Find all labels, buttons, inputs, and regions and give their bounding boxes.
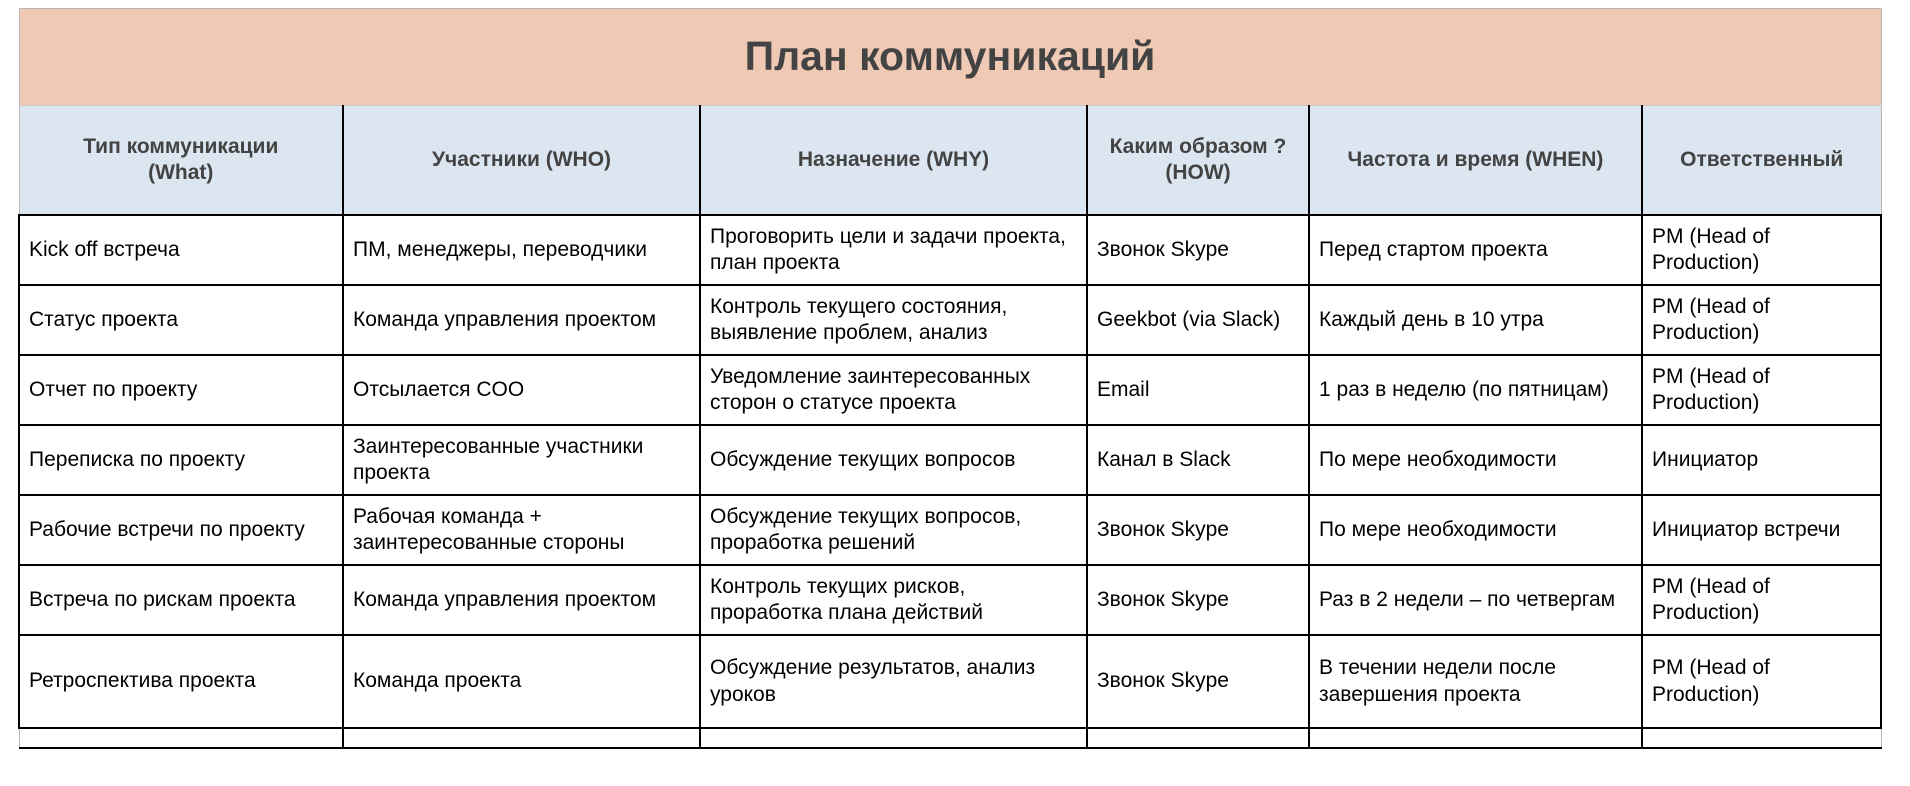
spreadsheet-canvas: План коммуникаций Тип коммуникации (What… [0,0,1910,786]
cell-how[interactable]: Geekbot (via Slack) [1087,285,1309,355]
cell-how[interactable]: Звонок Skype [1087,635,1309,728]
cell-what-text: Ретроспектива проекта [29,668,334,694]
cell-how[interactable]: Звонок Skype [1087,495,1309,565]
table-row[interactable]: Переписка по проекту Заинтересованные уч… [19,425,1881,495]
column-header-owner-label: Ответственный [1650,147,1874,173]
cell-when-text: Раз в 2 недели – по четвергам [1319,587,1633,613]
cell-why[interactable]: Обсуждение текущих вопросов, проработка … [700,495,1087,565]
column-header-what-line2: (What) [27,160,336,186]
cell-when-text: По мере необходимости [1319,447,1633,473]
table-row[interactable]: Рабочие встречи по проекту Рабочая коман… [19,495,1881,565]
cell-what[interactable]: Встреча по рискам проекта [19,565,343,635]
table-row[interactable]: Ретроспектива проекта Команда проекта Об… [19,635,1881,728]
cell-who[interactable]: Заинтересованные участники проекта [343,425,700,495]
cell-owner[interactable]: Инициатор [1642,425,1881,495]
cell-owner[interactable]: PM (Head of Production) [1642,215,1881,285]
cell-how-empty[interactable] [1087,728,1309,748]
cell-when[interactable]: В течении недели после завершения проект… [1309,635,1642,728]
cell-what-text: Переписка по проекту [29,447,334,473]
cell-who[interactable]: Отсылается COO [343,355,700,425]
cell-what[interactable]: Ретроспектива проекта [19,635,343,728]
cell-who-text: Команда проекта [353,668,691,694]
cell-owner-text: Инициатор встречи [1652,517,1872,543]
cell-who[interactable]: Команда управления проектом [343,565,700,635]
cell-what-text: Kick off встреча [29,237,334,263]
cell-what-text: Рабочие встречи по проекту [29,517,334,543]
column-header-how-line2: (HOW) [1095,160,1301,186]
table-title-cell[interactable]: План коммуникаций [19,9,1881,106]
cell-how[interactable]: Звонок Skype [1087,565,1309,635]
cell-how[interactable]: Звонок Skype [1087,215,1309,285]
cell-how-text: Email [1097,377,1300,403]
cell-when[interactable]: По мере необходимости [1309,495,1642,565]
cell-how-text: Канал в Slack [1097,447,1300,473]
cell-why[interactable]: Уведомление заинтересованных сторон о ст… [700,355,1087,425]
cell-when-empty[interactable] [1309,728,1642,748]
column-header-what-line1: Тип коммуникации [27,134,336,160]
cell-when[interactable]: 1 раз в неделю (по пятницам) [1309,355,1642,425]
cell-what-text: Отчет по проекту [29,377,334,403]
cell-who-text: Команда управления проектом [353,587,691,613]
cell-owner[interactable]: PM (Head of Production) [1642,565,1881,635]
table-row[interactable]: Kick off встреча ПМ, менеджеры, переводч… [19,215,1881,285]
column-header-what[interactable]: Тип коммуникации (What) [19,106,343,216]
cell-what[interactable]: Статус проекта [19,285,343,355]
cell-when[interactable]: Раз в 2 недели – по четвергам [1309,565,1642,635]
cell-why-text: Обсуждение результатов, анализ уроков [710,655,1078,708]
cell-owner[interactable]: PM (Head of Production) [1642,635,1881,728]
column-header-when-label: Частота и время (WHEN) [1317,147,1634,173]
cell-why[interactable]: Контроль текущих рисков, проработка план… [700,565,1087,635]
column-header-how[interactable]: Каким образом ? (HOW) [1087,106,1309,216]
cell-why[interactable]: Контроль текущего состояния, выявление п… [700,285,1087,355]
cell-owner-text: PM (Head of Production) [1652,655,1872,708]
cell-when[interactable]: Перед стартом проекта [1309,215,1642,285]
cell-why-text: Контроль текущего состояния, выявление п… [710,294,1078,347]
cell-who[interactable]: Рабочая команда + заинтересованные сторо… [343,495,700,565]
column-header-why-label: Назначение (WHY) [708,147,1079,173]
cell-owner[interactable]: Инициатор встречи [1642,495,1881,565]
communication-plan-table-wrapper: План коммуникаций Тип коммуникации (What… [18,8,1880,749]
cell-owner-text: PM (Head of Production) [1652,574,1872,627]
table-row-partial-cutoff[interactable] [19,728,1881,748]
cell-who-text: ПМ, менеджеры, переводчики [353,237,691,263]
cell-why-text: Обсуждение текущих вопросов [710,447,1078,473]
column-header-how-line1: Каким образом ? [1095,134,1301,160]
cell-how[interactable]: Email [1087,355,1309,425]
cell-how-text: Звонок Skype [1097,517,1300,543]
cell-owner[interactable]: PM (Head of Production) [1642,285,1881,355]
cell-when[interactable]: Каждый день в 10 утра [1309,285,1642,355]
table-row[interactable]: Отчет по проекту Отсылается COO Уведомле… [19,355,1881,425]
cell-owner-text: PM (Head of Production) [1652,364,1872,417]
page-title: План коммуникаций [745,33,1156,79]
cell-owner-text: Инициатор [1652,447,1872,473]
table-row[interactable]: Встреча по рискам проекта Команда управл… [19,565,1881,635]
cell-how-text: Звонок Skype [1097,237,1300,263]
cell-who[interactable]: Команда управления проектом [343,285,700,355]
cell-why-text: Обсуждение текущих вопросов, проработка … [710,504,1078,557]
cell-owner-text: PM (Head of Production) [1652,224,1872,277]
cell-how-text: Geekbot (via Slack) [1097,307,1300,333]
cell-why-text: Уведомление заинтересованных сторон о ст… [710,364,1078,417]
table-title-row: План коммуникаций [19,9,1881,106]
cell-owner-text: PM (Head of Production) [1652,294,1872,347]
cell-what[interactable]: Рабочие встречи по проекту [19,495,343,565]
cell-what[interactable]: Переписка по проекту [19,425,343,495]
cell-owner-empty[interactable] [1642,728,1881,748]
column-header-when[interactable]: Частота и время (WHEN) [1309,106,1642,216]
cell-what[interactable]: Отчет по проекту [19,355,343,425]
cell-why[interactable]: Обсуждение текущих вопросов [700,425,1087,495]
column-header-who-label: Участники (WHO) [351,147,692,173]
cell-why[interactable]: Проговорить цели и задачи проекта, план … [700,215,1087,285]
communication-plan-table[interactable]: План коммуникаций Тип коммуникации (What… [18,8,1882,749]
cell-who-text: Заинтересованные участники проекта [353,434,691,487]
cell-what-text: Встреча по рискам проекта [29,587,334,613]
cell-who[interactable]: ПМ, менеджеры, переводчики [343,215,700,285]
cell-who-text: Отсылается COO [353,377,691,403]
cell-how-text: Звонок Skype [1097,668,1300,694]
cell-when-text: Перед стартом проекта [1319,237,1633,263]
cell-when-text: Каждый день в 10 утра [1319,307,1633,333]
cell-who-text: Рабочая команда + заинтересованные сторо… [353,504,691,557]
column-header-owner[interactable]: Ответственный [1642,106,1881,216]
cell-when-text: В течении недели после завершения проект… [1319,655,1633,708]
cell-who[interactable]: Команда проекта [343,635,700,728]
cell-when-text: По мере необходимости [1319,517,1633,543]
column-header-who[interactable]: Участники (WHO) [343,106,700,216]
table-header-row: Тип коммуникации (What) Участники (WHO) … [19,106,1881,216]
cell-who-empty[interactable] [343,728,700,748]
cell-why-text: Проговорить цели и задачи проекта, план … [710,224,1078,277]
cell-when-text: 1 раз в неделю (по пятницам) [1319,377,1633,403]
column-header-why[interactable]: Назначение (WHY) [700,106,1087,216]
cell-what-text: Статус проекта [29,307,334,333]
cell-what[interactable]: Kick off встреча [19,215,343,285]
table-row[interactable]: Статус проекта Команда управления проект… [19,285,1881,355]
cell-owner[interactable]: PM (Head of Production) [1642,355,1881,425]
cell-how[interactable]: Канал в Slack [1087,425,1309,495]
cell-why[interactable]: Обсуждение результатов, анализ уроков [700,635,1087,728]
cell-when[interactable]: По мере необходимости [1309,425,1642,495]
cell-who-text: Команда управления проектом [353,307,691,333]
cell-how-text: Звонок Skype [1097,587,1300,613]
cell-why-empty[interactable] [700,728,1087,748]
cell-why-text: Контроль текущих рисков, проработка план… [710,574,1078,627]
cell-what-empty[interactable] [19,728,343,748]
